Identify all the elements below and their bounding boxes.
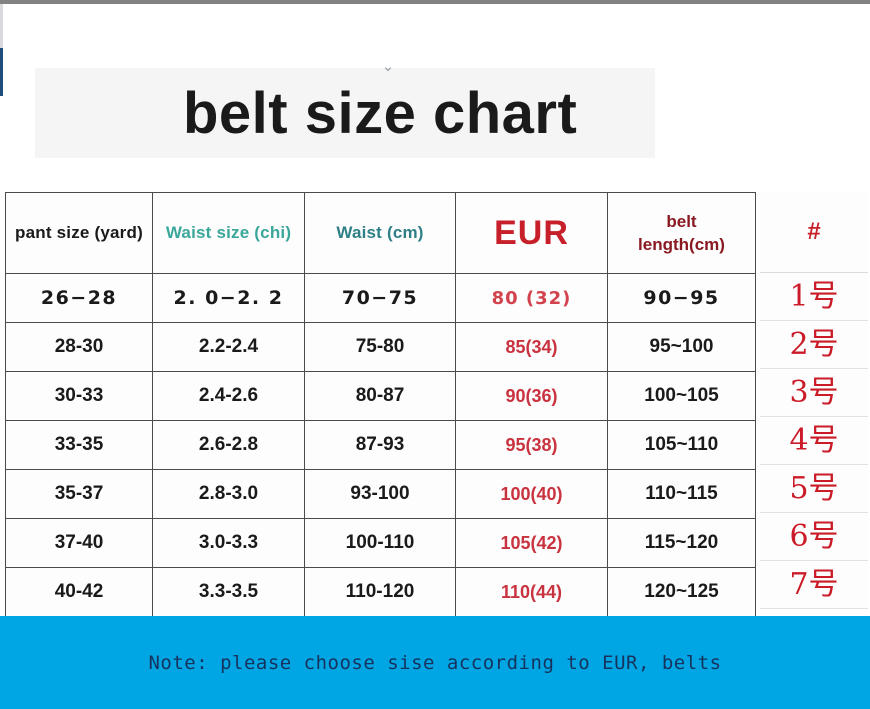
table-row: 40-42 3.3-3.5 110-120 110(44) 120~125 xyxy=(6,568,756,617)
cell-belt-number: 6号 xyxy=(760,513,868,561)
cell-waist-cm: 93-100 xyxy=(305,470,456,519)
table-row: 28-30 2.2-2.4 75-80 85(34) 95~100 xyxy=(6,323,756,372)
cell-belt-length: 100~105 xyxy=(608,372,756,421)
cell-belt-number: 2号 xyxy=(760,321,868,369)
cell-belt-length: 110~115 xyxy=(608,470,756,519)
top-edge-strip xyxy=(0,0,870,4)
cell-pant-size: 33-35 xyxy=(6,421,153,470)
caret-down-icon: ⌄ xyxy=(381,62,395,72)
table-row: 35-37 2.8-3.0 93-100 100(40) 110~115 xyxy=(6,470,756,519)
cell-belt-length: 105~110 xyxy=(608,421,756,470)
left-edge-strip-gray xyxy=(0,4,3,48)
table-row: 30-33 2.4-2.6 80-87 90(36) 100~105 xyxy=(6,372,756,421)
cell-waist-chi: 2.2-2.4 xyxy=(153,323,305,372)
table-row: 33-35 2.6-2.8 87-93 95(38) 105~110 xyxy=(6,421,756,470)
left-edge-strip-blue xyxy=(0,48,3,96)
cell-waist-cm: 75-80 xyxy=(305,323,456,372)
header-pant-size: pant size (yard) xyxy=(6,193,153,274)
cell-waist-chi: 2.4-2.6 xyxy=(153,372,305,421)
cell-pant-size: 28-30 xyxy=(6,323,153,372)
cell-waist-chi: 2. 0−2. 2 xyxy=(153,274,305,323)
header-belt-length: belt length(cm) xyxy=(608,193,756,274)
header-waist-cm: Waist (cm) xyxy=(305,193,456,274)
belt-number-column: # 1号 2号 3号 4号 5号 6号 7号 xyxy=(760,192,868,609)
cell-pant-size: 30-33 xyxy=(6,372,153,421)
cell-waist-chi: 2.8-3.0 xyxy=(153,470,305,519)
table-header-row: pant size (yard) Waist size (chi) Waist … xyxy=(6,193,756,274)
belt-size-table: pant size (yard) Waist size (chi) Waist … xyxy=(5,192,756,617)
cell-belt-number: 3号 xyxy=(760,369,868,417)
cell-waist-chi: 3.0-3.3 xyxy=(153,519,305,568)
page-title: belt size chart xyxy=(183,78,633,150)
cell-waist-chi: 3.3-3.5 xyxy=(153,568,305,617)
cell-waist-cm: 87-93 xyxy=(305,421,456,470)
cell-pant-size: 26−28 xyxy=(6,274,153,323)
cell-eur: 105(42) xyxy=(456,519,608,568)
cell-belt-length: 115~120 xyxy=(608,519,756,568)
header-belt-length-line2: length(cm) xyxy=(608,233,755,256)
cell-waist-cm: 80-87 xyxy=(305,372,456,421)
cell-pant-size: 40-42 xyxy=(6,568,153,617)
cell-eur: 85(34) xyxy=(456,323,608,372)
note-text: Note: please choose sise according to EU… xyxy=(0,652,870,674)
cell-eur: 95(38) xyxy=(456,421,608,470)
cell-eur: 80 (32) xyxy=(456,274,608,323)
header-eur: EUR xyxy=(456,193,608,274)
cell-pant-size: 37-40 xyxy=(6,519,153,568)
cell-belt-number: 4号 xyxy=(760,417,868,465)
header-hash: # xyxy=(760,192,868,273)
cell-waist-cm: 110-120 xyxy=(305,568,456,617)
cell-eur: 100(40) xyxy=(456,470,608,519)
cell-waist-cm: 100-110 xyxy=(305,519,456,568)
table-row: 37-40 3.0-3.3 100-110 105(42) 115~120 xyxy=(6,519,756,568)
cell-belt-number: 7号 xyxy=(760,561,868,609)
cell-belt-number: 5号 xyxy=(760,465,868,513)
cell-belt-length: 120~125 xyxy=(608,568,756,617)
cell-belt-number: 1号 xyxy=(760,273,868,321)
cell-belt-length: 95~100 xyxy=(608,323,756,372)
cell-eur: 90(36) xyxy=(456,372,608,421)
header-belt-length-line1: belt xyxy=(608,210,755,233)
cell-waist-chi: 2.6-2.8 xyxy=(153,421,305,470)
table-row: 26−28 2. 0−2. 2 70−75 80 (32) 90−95 xyxy=(6,274,756,323)
header-waist-size-chi: Waist size (chi) xyxy=(153,193,305,274)
cell-waist-cm: 70−75 xyxy=(305,274,456,323)
cell-pant-size: 35-37 xyxy=(6,470,153,519)
cell-belt-length: 90−95 xyxy=(608,274,756,323)
cell-eur: 110(44) xyxy=(456,568,608,617)
